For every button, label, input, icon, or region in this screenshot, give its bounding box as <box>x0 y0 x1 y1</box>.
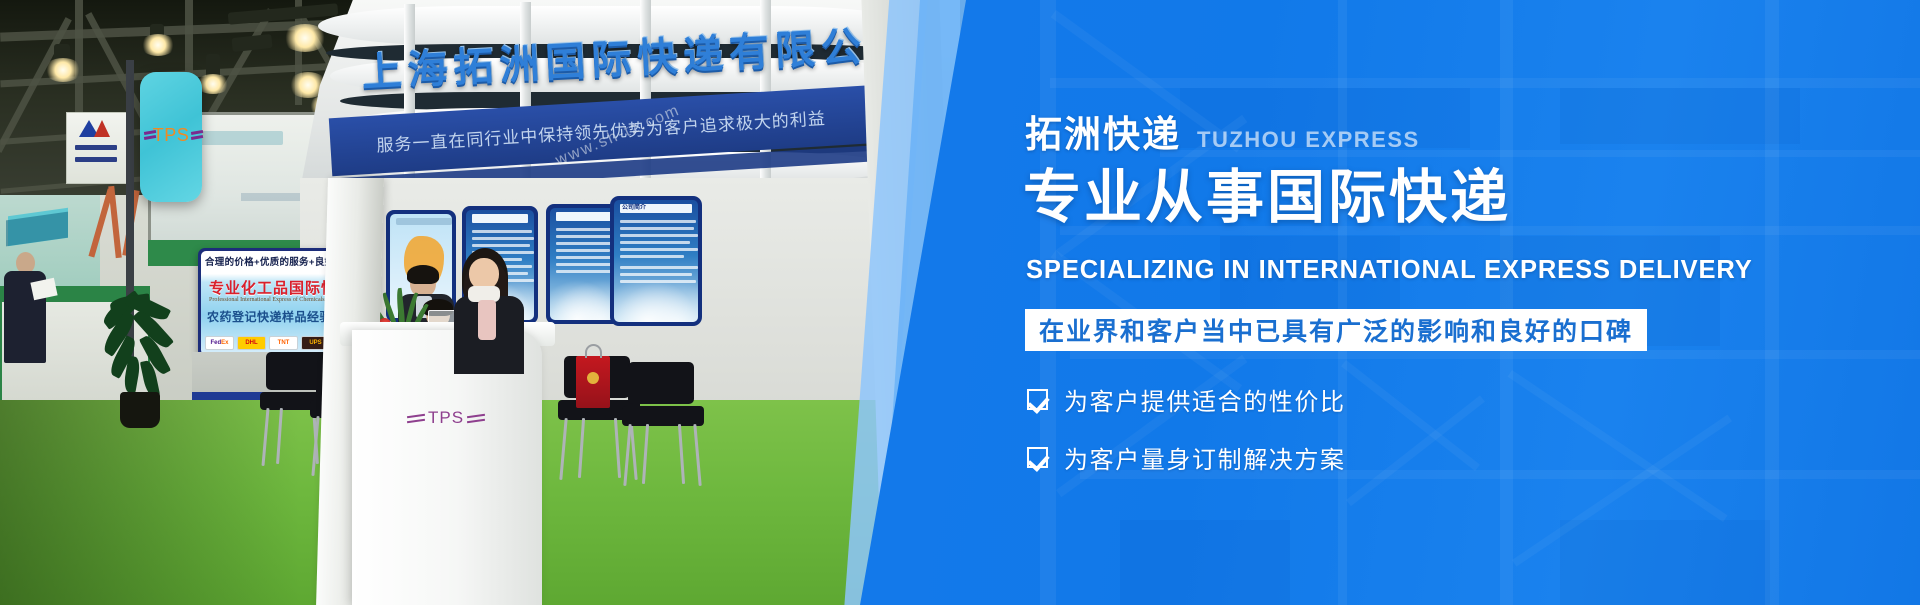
hero-banner: TPS 上海拓洲国际快递有限公司 服务一直在同行业中保持领先优势为客户追求极大的… <box>0 0 1920 605</box>
dhl-logo: DHL <box>237 336 266 350</box>
booth-company-profile-panel: 公司简介 <box>610 196 702 326</box>
poster-line-3: Professional International Express of Ch… <box>209 297 325 303</box>
bullet-text: 为客户量身订制解决方案 <box>1064 440 1346 475</box>
red-gift-bag <box>576 356 610 408</box>
potted-plant <box>96 296 188 426</box>
visitor-person-left <box>2 252 48 362</box>
bullet-item: 为客户量身订制解决方案 <box>1027 440 1346 475</box>
tnt-logo: TNT <box>269 336 298 350</box>
bullet-list: 为客户提供适合的性价比 为客户量身订制解决方案 <box>1027 382 1346 498</box>
spotlight <box>140 34 176 56</box>
spotlight <box>44 58 82 82</box>
checkbox-checked-icon <box>1027 447 1048 468</box>
counter-tps-text: TPS <box>428 408 464 428</box>
highlight-box: 在业界和客户当中已具有广泛的影响和良好的口碑 <box>1025 309 1647 351</box>
brand-name-en: TUZHOU EXPRESS <box>1197 129 1420 153</box>
tps-sign-text: TPS <box>153 125 190 146</box>
bullet-text: 为客户提供适合的性价比 <box>1064 382 1346 417</box>
chair <box>620 362 706 488</box>
highlight-text: 在业界和客户当中已具有广泛的影响和良好的口碑 <box>1039 312 1633 348</box>
counter-tps-logo: TPS <box>398 405 494 431</box>
neighbor-booth-sign <box>66 112 128 184</box>
brand-row: 拓洲快递 TUZHOU EXPRESS <box>1025 116 1420 153</box>
person-staff-woman <box>452 252 524 372</box>
carpet-shadow <box>0 400 300 605</box>
checkbox-checked-icon <box>1027 389 1048 410</box>
panel-caption: 公司简介 <box>622 204 646 213</box>
brand-name-cn: 拓洲快递 <box>1025 116 1181 153</box>
tps-logo-sign: TPS <box>140 72 202 202</box>
headline-cn: 专业从事国际快递 <box>1023 166 1511 231</box>
bullet-item: 为客户提供适合的性价比 <box>1027 382 1346 417</box>
booth-photograph: TPS 上海拓洲国际快递有限公司 服务一直在同行业中保持领先优势为客户追求极大的… <box>0 0 960 605</box>
subheadline-en: SPECIALIZING IN INTERNATIONAL EXPRESS DE… <box>1026 256 1753 285</box>
banner-text-content: 拓洲快递 TUZHOU EXPRESS 专业从事国际快递 SPECIALIZIN… <box>1025 0 1905 605</box>
fedex-logo: FedEx <box>205 336 234 350</box>
